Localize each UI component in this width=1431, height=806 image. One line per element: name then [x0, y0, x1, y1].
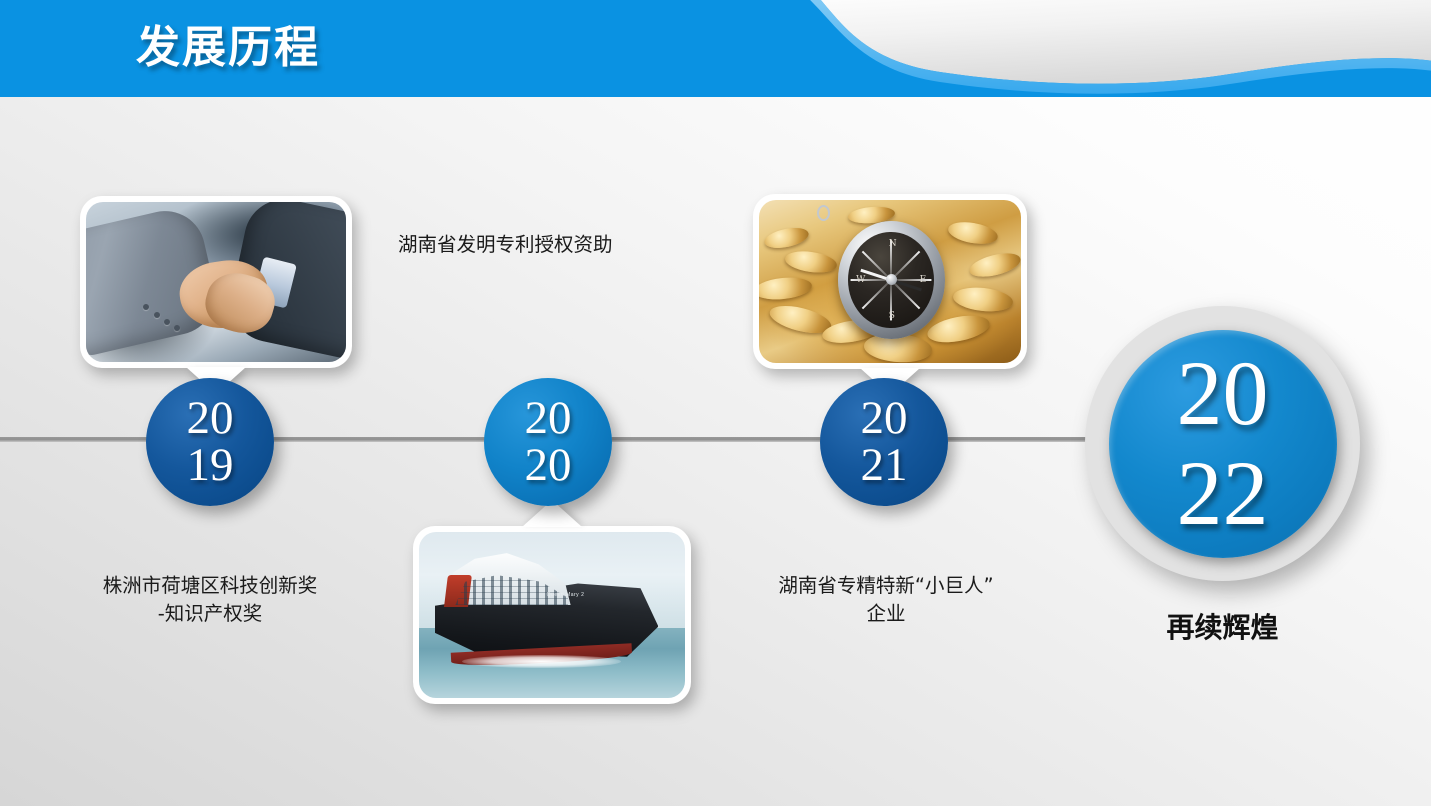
year-bottom-2021: 21 — [861, 442, 908, 489]
year-top-2019: 20 — [187, 395, 234, 442]
caption-2021-line2: 企业 — [717, 600, 1055, 628]
caption-2019-line2: -知识产权奖 — [40, 600, 380, 628]
slide-canvas: 发展历程 — [0, 0, 1431, 806]
year-top-2021: 20 — [861, 395, 908, 442]
year-bottom-2019: 19 — [187, 442, 234, 489]
compass-letter-n: N — [889, 239, 897, 249]
page-title: 发展历程 — [136, 11, 320, 75]
year-top-2020: 20 — [525, 395, 572, 442]
timeline-node-2022-inner: 20 22 — [1109, 330, 1337, 558]
caption-2022-line1: 再续辉煌 — [1085, 608, 1360, 649]
compass-letter-s: S — [889, 311, 895, 321]
header-banner: 发展历程 — [0, 0, 1431, 97]
timeline-node-2020[interactable]: 20 20 — [484, 378, 612, 506]
handshake-image — [86, 202, 346, 362]
ship-hull-name: Queen Mary 2 — [547, 592, 585, 598]
caption-2019-line1: 株洲市荷塘区科技创新奖 — [40, 572, 380, 600]
caption-2019: 株洲市荷塘区科技创新奖 -知识产权奖 — [40, 572, 380, 629]
caption-2022: 再续辉煌 — [1085, 608, 1360, 649]
compass-coins-image: N E S W — [759, 200, 1021, 363]
caption-2021: 湖南省专精特新“小巨人” 企业 — [717, 572, 1055, 629]
compass-letter-w: W — [856, 275, 865, 285]
timeline-node-2019[interactable]: 20 19 — [146, 378, 274, 506]
caption-2020-line1: 湖南省发明专利授权资助 — [398, 231, 698, 259]
year-top-2022: 20 — [1177, 344, 1269, 443]
caption-2020: 湖南省发明专利授权资助 — [398, 231, 698, 259]
cruise-ship-image: Queen Mary 2 — [419, 532, 685, 698]
caption-2021-line1: 湖南省专精特新“小巨人” — [717, 572, 1055, 600]
photo-card-handshake[interactable] — [80, 196, 352, 368]
timeline-node-2021[interactable]: 20 21 — [820, 378, 948, 506]
timeline-node-2022[interactable]: 20 22 — [1085, 306, 1360, 581]
photo-card-compass[interactable]: N E S W — [753, 194, 1027, 369]
photo-card-cruise-ship[interactable]: Queen Mary 2 — [413, 526, 691, 704]
year-bottom-2020: 20 — [525, 442, 572, 489]
year-bottom-2022: 22 — [1177, 444, 1269, 543]
compass-letter-e: E — [920, 275, 927, 285]
